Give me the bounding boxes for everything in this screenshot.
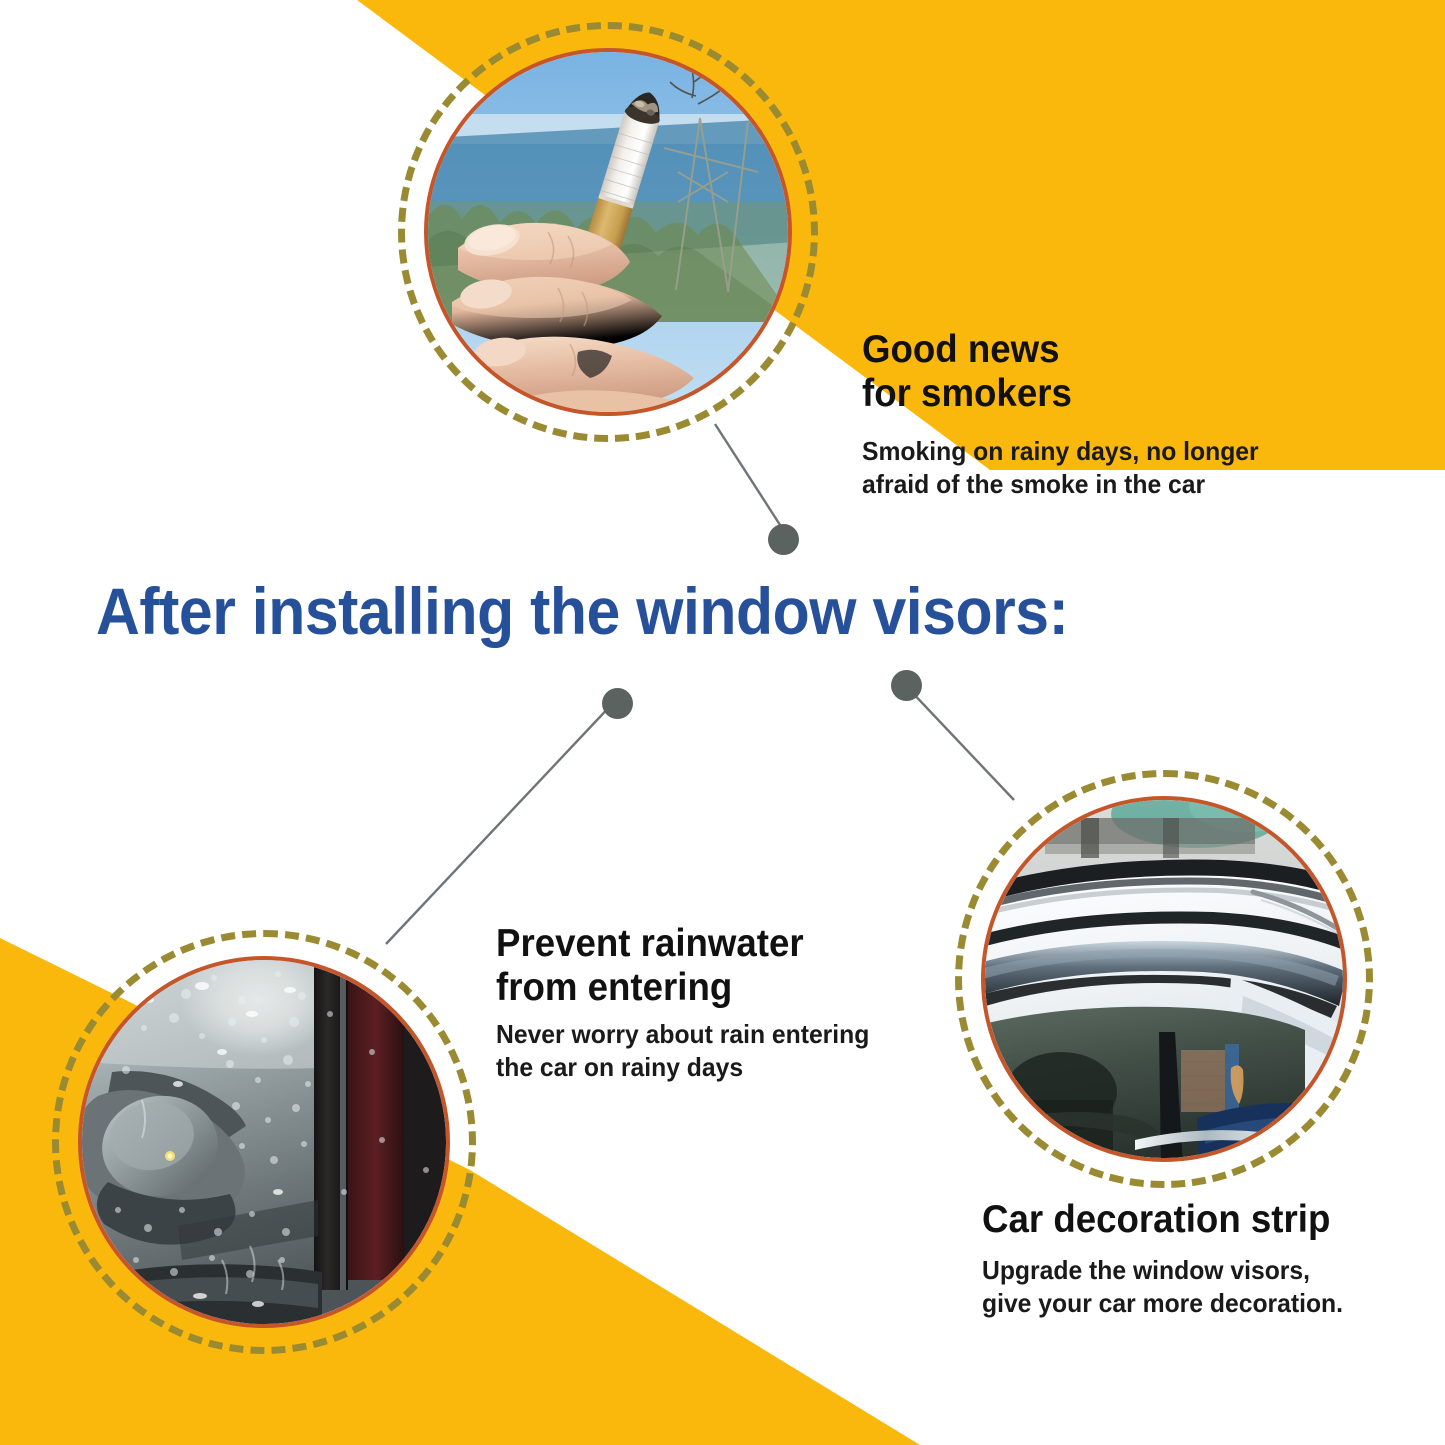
feature-subtitle-decoration: Upgrade the window visors, give your car… — [982, 1254, 1343, 1319]
feature-title-decoration: Car decoration strip — [982, 1198, 1330, 1242]
photo-frame-smokers — [424, 48, 792, 416]
feature-subtitle-rainwater: Never worry about rain entering the car … — [496, 1018, 869, 1083]
connector-line-smokers — [715, 424, 782, 528]
connector-dot-rainwater — [602, 688, 633, 719]
photo-frame-rainwater — [78, 956, 450, 1328]
feature-title-rainwater: Prevent rainwater from entering — [496, 922, 804, 1011]
feature-title-smokers: Good news for smokers — [862, 328, 1072, 417]
page-title: After installing the window visors: — [96, 578, 1068, 644]
rain-covered-car-window-photo — [82, 960, 446, 1324]
connector-line-rainwater — [386, 702, 614, 944]
hand-holding-lit-cigarette-photo — [428, 52, 788, 412]
connector-line-decoration — [908, 688, 1014, 800]
connector-dot-decoration — [891, 670, 922, 701]
infographic-canvas: Good news for smokers Smoking on rainy d… — [0, 0, 1445, 1445]
feature-subtitle-smokers: Smoking on rainy days, no longer afraid … — [862, 435, 1259, 500]
photo-frame-decoration — [981, 796, 1347, 1162]
car-roofline-window-visor-photo — [985, 800, 1343, 1158]
connector-dot-smokers — [768, 524, 799, 555]
